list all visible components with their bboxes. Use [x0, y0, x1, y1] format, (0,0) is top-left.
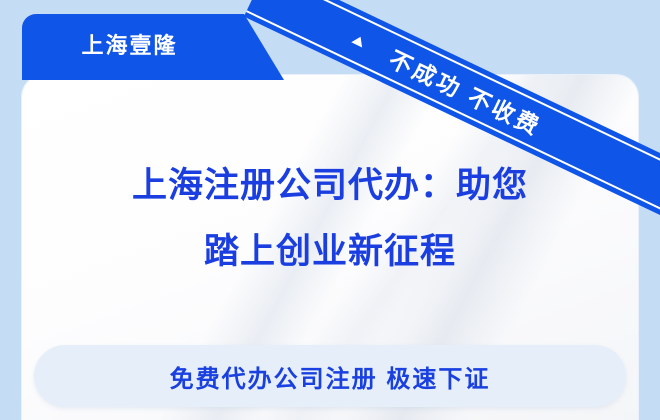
triangle-up-icon [351, 34, 366, 47]
poster-canvas: 上海注册公司代办：助您 踏上创业新征程 免费代办公司注册 极速下证 上海壹隆 不… [0, 0, 660, 420]
brand-tab-label: 上海壹隆 [22, 14, 237, 74]
page-title: 上海注册公司代办：助您 踏上创业新征程 [22, 153, 638, 285]
page-title-line-2: 踏上创业新征程 [22, 219, 638, 285]
promo-banner-label: 免费代办公司注册 极速下证 [170, 359, 491, 394]
promo-banner[interactable]: 免费代办公司注册 极速下证 [34, 345, 626, 407]
page-title-line-1: 上海注册公司代办：助您 [22, 153, 638, 219]
brand-tab[interactable]: 上海壹隆 [22, 14, 284, 80]
